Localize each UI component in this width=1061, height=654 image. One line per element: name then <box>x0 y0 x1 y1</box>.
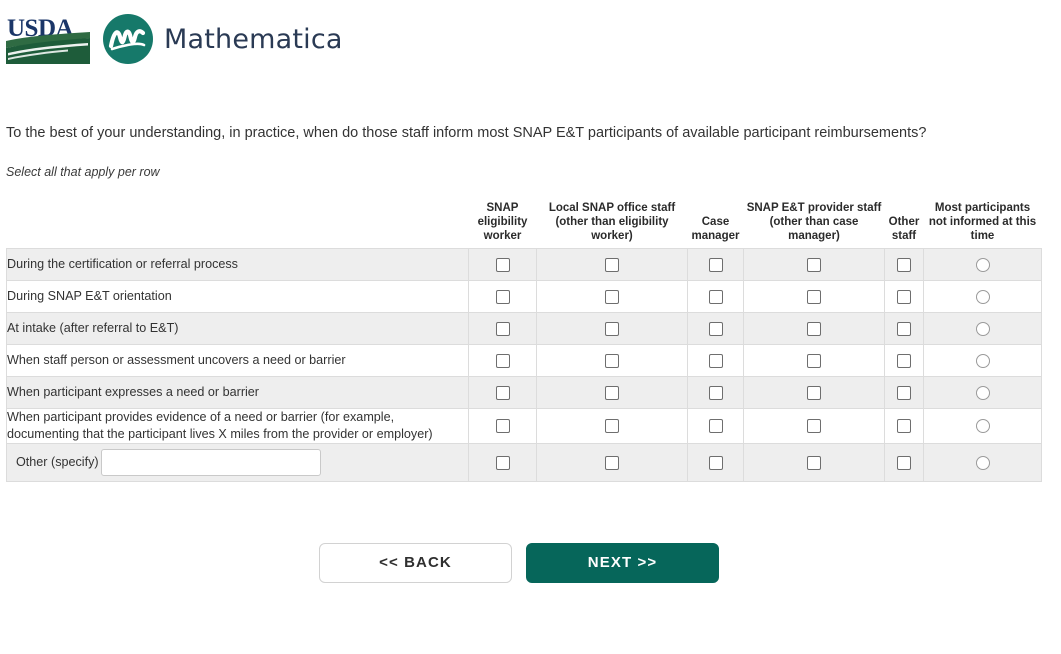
usda-logo: USDA <box>6 14 90 64</box>
table-row: When staff person or assessment uncovers… <box>7 344 1042 376</box>
checkbox-r4-c4[interactable] <box>897 386 911 400</box>
cell-r3-case-manager[interactable] <box>688 344 744 376</box>
column-header-snap-et-provider-staff: SNAP E&T provider staff (other than case… <box>744 197 885 249</box>
mathematica-logo-mark <box>102 13 154 65</box>
radio-r4-c5[interactable] <box>976 386 990 400</box>
row-label-participant-expresses-need: When participant expresses a need or bar… <box>7 376 469 408</box>
cell-r0-case-manager[interactable] <box>688 248 744 280</box>
table-row: When participant expresses a need or bar… <box>7 376 1042 408</box>
cell-r2-local-snap-office-staff[interactable] <box>537 312 688 344</box>
radio-r1-c5[interactable] <box>976 290 990 304</box>
column-header-most-participants-not-informed: Most participants not informed at this t… <box>924 197 1042 249</box>
checkbox-r0-c1[interactable] <box>605 258 619 272</box>
cell-r4-snap-eligibility-worker[interactable] <box>469 376 537 408</box>
cell-r4-local-snap-office-staff[interactable] <box>537 376 688 408</box>
checkbox-r0-c4[interactable] <box>897 258 911 272</box>
cell-r6-other-staff[interactable] <box>885 443 924 481</box>
checkbox-r5-c0[interactable] <box>496 419 510 433</box>
cell-r3-snap-eligibility-worker[interactable] <box>469 344 537 376</box>
cell-r4-other-staff[interactable] <box>885 376 924 408</box>
cell-r5-snap-et-provider-staff[interactable] <box>744 408 885 443</box>
page-header: USDA Mathematica <box>0 0 1061 70</box>
checkbox-r6-c2[interactable] <box>709 456 723 470</box>
cell-r4-case-manager[interactable] <box>688 376 744 408</box>
checkbox-r3-c1[interactable] <box>605 354 619 368</box>
mathematica-wordmark: Mathematica <box>164 26 343 53</box>
checkbox-r6-c4[interactable] <box>897 456 911 470</box>
cell-r1-other-staff[interactable] <box>885 280 924 312</box>
radio-r3-c5[interactable] <box>976 354 990 368</box>
table-row: Other (specify) <box>7 443 1042 481</box>
cell-r5-other-staff[interactable] <box>885 408 924 443</box>
other-specify-input[interactable] <box>101 449 321 476</box>
checkbox-r3-c4[interactable] <box>897 354 911 368</box>
cell-r5-local-snap-office-staff[interactable] <box>537 408 688 443</box>
checkbox-r6-c0[interactable] <box>496 456 510 470</box>
table-header-row: SNAP eligibility worker Local SNAP offic… <box>7 197 1042 249</box>
cell-r0-local-snap-office-staff[interactable] <box>537 248 688 280</box>
row-label-staff-or-assessment-uncovers-need: When staff person or assessment uncovers… <box>7 344 469 376</box>
checkbox-r5-c2[interactable] <box>709 419 723 433</box>
cell-r3-snap-et-provider-staff[interactable] <box>744 344 885 376</box>
checkbox-r5-c3[interactable] <box>807 419 821 433</box>
checkbox-r0-c2[interactable] <box>709 258 723 272</box>
checkbox-r3-c2[interactable] <box>709 354 723 368</box>
cell-r1-local-snap-office-staff[interactable] <box>537 280 688 312</box>
checkbox-r5-c4[interactable] <box>897 419 911 433</box>
column-header-snap-eligibility-worker: SNAP eligibility worker <box>469 197 537 249</box>
matrix-table-container: SNAP eligibility worker Local SNAP offic… <box>0 197 1061 482</box>
checkbox-r5-c1[interactable] <box>605 419 619 433</box>
cell-r6-case-manager[interactable] <box>688 443 744 481</box>
row-label-other-specify: Other (specify) <box>7 443 469 481</box>
column-header-local-snap-office-staff: Local SNAP office staff (other than elig… <box>537 197 688 249</box>
cell-r0-snap-eligibility-worker[interactable] <box>469 248 537 280</box>
checkbox-r2-c4[interactable] <box>897 322 911 336</box>
cell-r1-most-participants-not-informed[interactable] <box>924 280 1042 312</box>
cell-r6-most-participants-not-informed[interactable] <box>924 443 1042 481</box>
checkbox-r2-c2[interactable] <box>709 322 723 336</box>
cell-r5-most-participants-not-informed[interactable] <box>924 408 1042 443</box>
checkbox-r3-c0[interactable] <box>496 354 510 368</box>
checkbox-r1-c4[interactable] <box>897 290 911 304</box>
response-matrix-table: SNAP eligibility worker Local SNAP offic… <box>6 197 1042 482</box>
checkbox-r1-c1[interactable] <box>605 290 619 304</box>
instruction-text: Select all that apply per row <box>6 165 1061 179</box>
header-blank-corner <box>7 197 469 249</box>
table-row: At intake (after referral to E&T) <box>7 312 1042 344</box>
checkbox-r2-c3[interactable] <box>807 322 821 336</box>
cell-r5-snap-eligibility-worker[interactable] <box>469 408 537 443</box>
back-button[interactable]: << BACK <box>319 543 512 583</box>
checkbox-r4-c2[interactable] <box>709 386 723 400</box>
checkbox-r1-c2[interactable] <box>709 290 723 304</box>
cell-r1-case-manager[interactable] <box>688 280 744 312</box>
radio-r6-c5[interactable] <box>976 456 990 470</box>
checkbox-r1-c0[interactable] <box>496 290 510 304</box>
checkbox-r0-c3[interactable] <box>807 258 821 272</box>
row-label-during-certification-or-referral-process: During the certification or referral pro… <box>7 248 469 280</box>
checkbox-r2-c0[interactable] <box>496 322 510 336</box>
row-label-during-snap-et-orientation: During SNAP E&T orientation <box>7 280 469 312</box>
checkbox-r4-c0[interactable] <box>496 386 510 400</box>
checkbox-r6-c1[interactable] <box>605 456 619 470</box>
checkbox-r0-c0[interactable] <box>496 258 510 272</box>
column-header-case-manager: Case manager <box>688 197 744 249</box>
cell-r6-snap-et-provider-staff[interactable] <box>744 443 885 481</box>
cell-r2-snap-et-provider-staff[interactable] <box>744 312 885 344</box>
cell-r3-local-snap-office-staff[interactable] <box>537 344 688 376</box>
row-label-participant-provides-evidence: When participant provides evidence of a … <box>7 408 469 443</box>
cell-r2-other-staff[interactable] <box>885 312 924 344</box>
next-button[interactable]: NEXT >> <box>526 543 719 583</box>
radio-r2-c5[interactable] <box>976 322 990 336</box>
radio-r5-c5[interactable] <box>976 419 990 433</box>
row-label-at-intake-after-referral: At intake (after referral to E&T) <box>7 312 469 344</box>
cell-r3-other-staff[interactable] <box>885 344 924 376</box>
cell-r6-snap-eligibility-worker[interactable] <box>469 443 537 481</box>
checkbox-r2-c1[interactable] <box>605 322 619 336</box>
cell-r2-most-participants-not-informed[interactable] <box>924 312 1042 344</box>
cell-r2-snap-eligibility-worker[interactable] <box>469 312 537 344</box>
checkbox-r6-c3[interactable] <box>807 456 821 470</box>
cell-r4-most-participants-not-informed[interactable] <box>924 376 1042 408</box>
column-header-other-staff: Other staff <box>885 197 924 249</box>
radio-r0-c5[interactable] <box>976 258 990 272</box>
cell-r5-case-manager[interactable] <box>688 408 744 443</box>
checkbox-r4-c1[interactable] <box>605 386 619 400</box>
question-text: To the best of your understanding, in pr… <box>6 124 1061 143</box>
checkbox-r1-c3[interactable] <box>807 290 821 304</box>
table-row: When participant provides evidence of a … <box>7 408 1042 443</box>
cell-r3-most-participants-not-informed[interactable] <box>924 344 1042 376</box>
cell-r1-snap-et-provider-staff[interactable] <box>744 280 885 312</box>
navigation-buttons: << BACK NEXT >> <box>0 543 1061 583</box>
table-row: During SNAP E&T orientation <box>7 280 1042 312</box>
table-row: During the certification or referral pro… <box>7 248 1042 280</box>
cell-r0-other-staff[interactable] <box>885 248 924 280</box>
cell-r2-case-manager[interactable] <box>688 312 744 344</box>
cell-r0-most-participants-not-informed[interactable] <box>924 248 1042 280</box>
cell-r1-snap-eligibility-worker[interactable] <box>469 280 537 312</box>
checkbox-r4-c3[interactable] <box>807 386 821 400</box>
cell-r0-snap-et-provider-staff[interactable] <box>744 248 885 280</box>
checkbox-r3-c3[interactable] <box>807 354 821 368</box>
cell-r4-snap-et-provider-staff[interactable] <box>744 376 885 408</box>
cell-r6-local-snap-office-staff[interactable] <box>537 443 688 481</box>
other-specify-label: Other (specify) <box>16 454 99 471</box>
